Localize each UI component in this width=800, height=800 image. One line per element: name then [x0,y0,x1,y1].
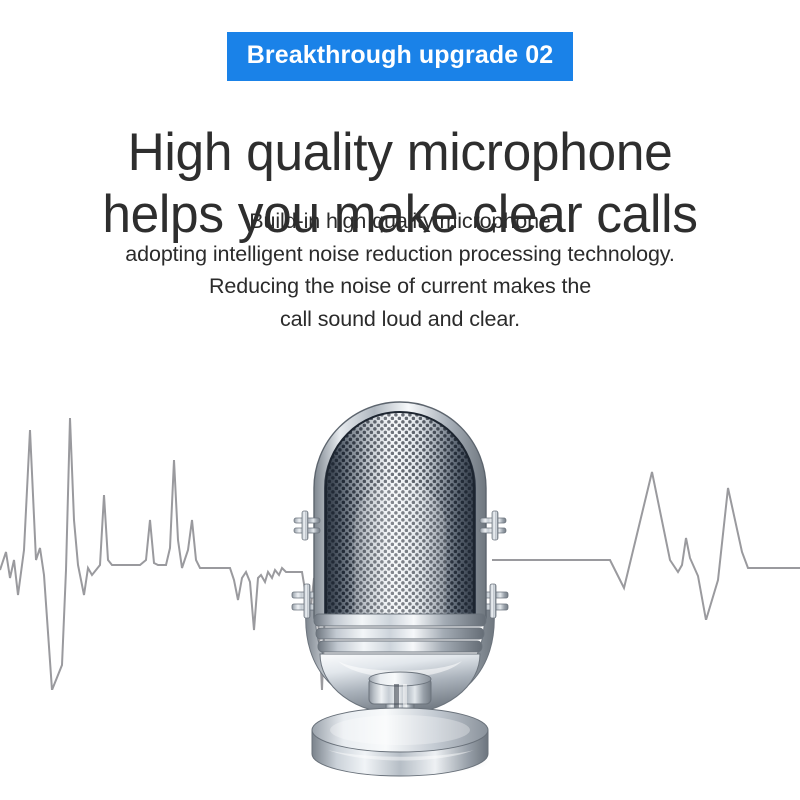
description-line-4: call sound loud and clear. [0,303,800,336]
description-text: Build-in high quality microphone adoptin… [0,205,800,336]
description-line-3: Reducing the noise of current makes the [0,270,800,303]
badge-row: Breakthrough upgrade 02 [0,32,800,81]
audio-waveform-icon-right [492,440,800,620]
product-feature-banner: Breakthrough upgrade 02 High quality mic… [0,0,800,800]
status-badge: Breakthrough upgrade 02 [227,32,574,81]
description-line-2: adopting intelligent noise reduction pro… [0,238,800,271]
description-line-1: Build-in high quality microphone [0,205,800,238]
condenser-microphone-icon [268,378,532,778]
headline-line-1: High quality microphone [12,122,788,185]
mic-base [312,708,488,776]
